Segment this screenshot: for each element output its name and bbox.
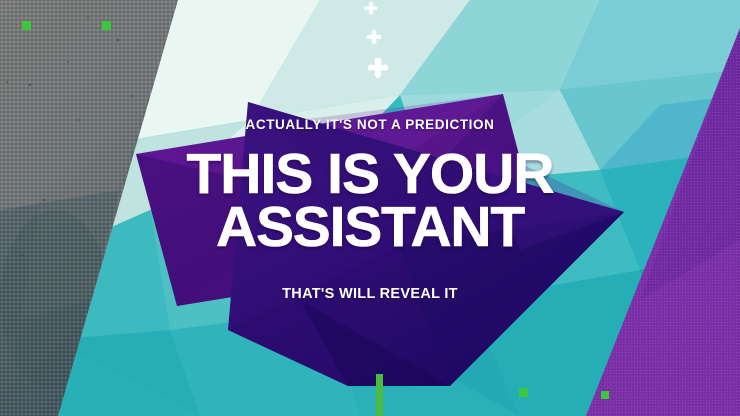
kicker-text: ACTUALLY IT'S NOT A PREDICTION [0,117,740,132]
green-marker-top-left [22,21,31,30]
green-marker-top-mid [102,21,111,30]
slide-canvas: ACTUALLY IT'S NOT A PREDICTION THIS IS Y… [0,0,740,416]
green-marker-bottom-mid [519,388,528,397]
green-marker-bottom-right [601,391,609,399]
tagline-text: THAT'S WILL REVEAL IT [0,286,740,302]
page-title: THIS IS YOUR ASSISTANT [0,148,740,254]
headline-line-1: THIS IS YOUR [0,148,740,201]
puzzle-cross-icon-large [364,58,392,86]
puzzle-cross-icon-medium [364,30,384,50]
headline-line-2: ASSISTANT [0,201,740,254]
puzzle-cross-icon-small [362,2,380,20]
green-vertical-bar [376,374,383,416]
